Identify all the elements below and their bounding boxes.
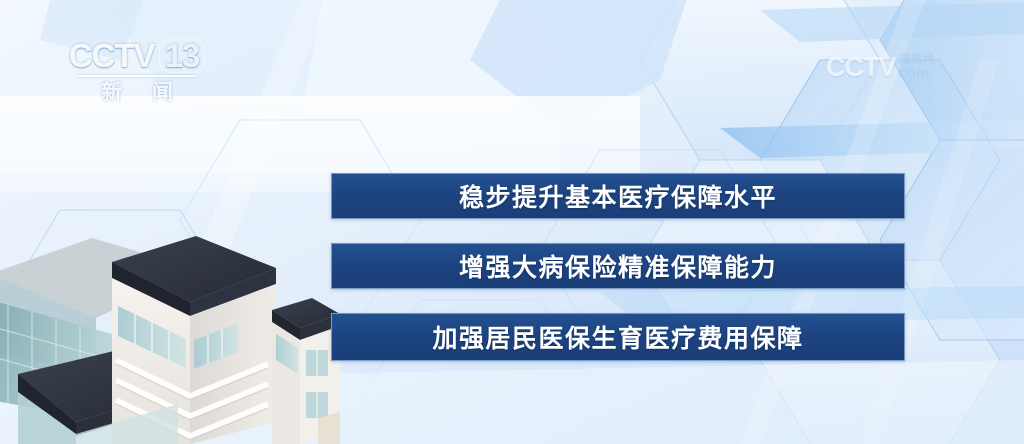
broadcast-graphic-stage: CCTV13 新 闻 CCTV 央视网 com 稳步提升基本医疗保障水平 增强大… — [0, 0, 1024, 444]
building-artwork — [0, 222, 340, 444]
headline-text-2: 增强大病保险精准保障能力 — [459, 248, 777, 284]
headline-banner-group: 稳步提升基本医疗保障水平 增强大病保险精准保障能力 加强居民医保生育医疗费用保障 — [331, 173, 907, 363]
headline-banner-2: 增强大病保险精准保障能力 — [331, 243, 905, 289]
headline-banner-3: 加强居民医保生育医疗费用保障 — [331, 313, 905, 361]
headline-text-1: 稳步提升基本医疗保障水平 — [459, 178, 777, 214]
headline-text-3: 加强居民医保生育医疗费用保障 — [432, 319, 803, 355]
headline-banner-1: 稳步提升基本医疗保障水平 — [331, 173, 905, 219]
hospital-building-illustration — [0, 222, 340, 444]
